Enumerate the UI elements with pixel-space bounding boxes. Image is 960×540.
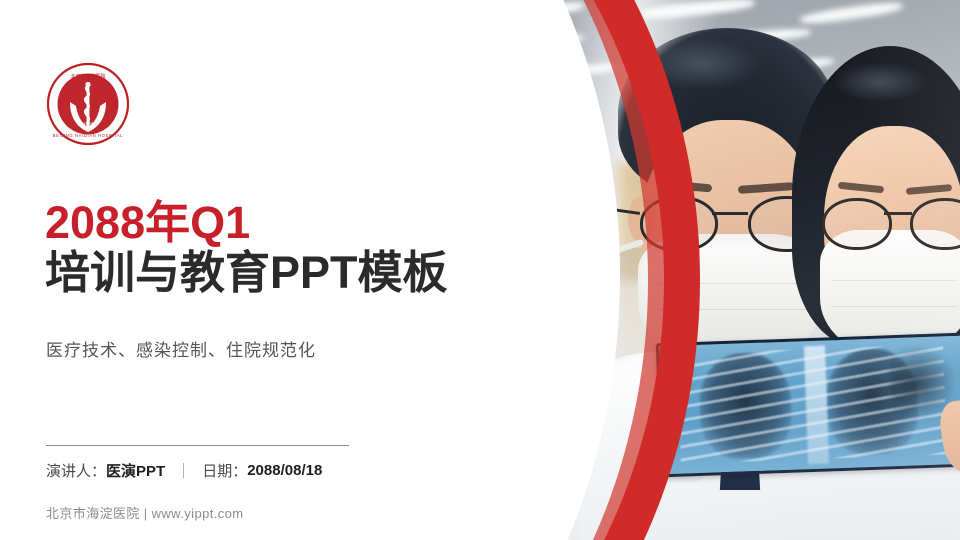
meta-row: 演讲人： 医演PPT 日期： 2088/08/18 [46, 460, 322, 481]
glasses-bridge [884, 212, 912, 215]
mask-fold [653, 283, 808, 284]
logo-ring-text-cn: 北京市海淀医院 [70, 73, 105, 80]
female-doctor-glasses-icon [816, 198, 960, 244]
logo-ring-text-en: BEIJING HAIDIAN HOSPITAL [53, 133, 123, 138]
title-line-2: 培训与教育PPT模板 [45, 248, 448, 298]
date-label: 日期： [202, 460, 247, 481]
meta-separator [183, 463, 184, 478]
mask-fold [832, 306, 958, 307]
glasses-lens-right [910, 198, 960, 250]
title-line-1: 2088年Q1 [45, 198, 448, 248]
glasses-lens-left [640, 196, 718, 252]
speaker-label: 演讲人： [46, 460, 106, 481]
mask-fold [653, 309, 808, 310]
cover-text-panel: 北京市海淀医院 BEIJING HAIDIAN HOSPITAL 1948 20… [0, 0, 430, 540]
page-title: 2088年Q1 培训与教育PPT模板 [45, 198, 448, 299]
presentation-slide: 北京市海淀医院 BEIJING HAIDIAN HOSPITAL 1948 20… [0, 0, 960, 540]
hospital-crest-logo: 北京市海淀医院 BEIJING HAIDIAN HOSPITAL 1948 [46, 62, 130, 146]
mask-fold [832, 280, 958, 281]
subtitle: 医疗技术、感染控制、住院规范化 [46, 336, 316, 361]
glasses-bridge [712, 212, 748, 215]
logo-year: 1948 [83, 121, 93, 126]
divider-line [46, 445, 349, 446]
glasses-lens-left [822, 198, 892, 250]
speaker-value: 医演PPT [106, 460, 165, 481]
footer-organization-and-url: 北京市海淀医院 | www.yippt.com [46, 503, 244, 522]
chest-xray-film [656, 333, 960, 478]
date-value: 2088/08/18 [247, 462, 322, 479]
